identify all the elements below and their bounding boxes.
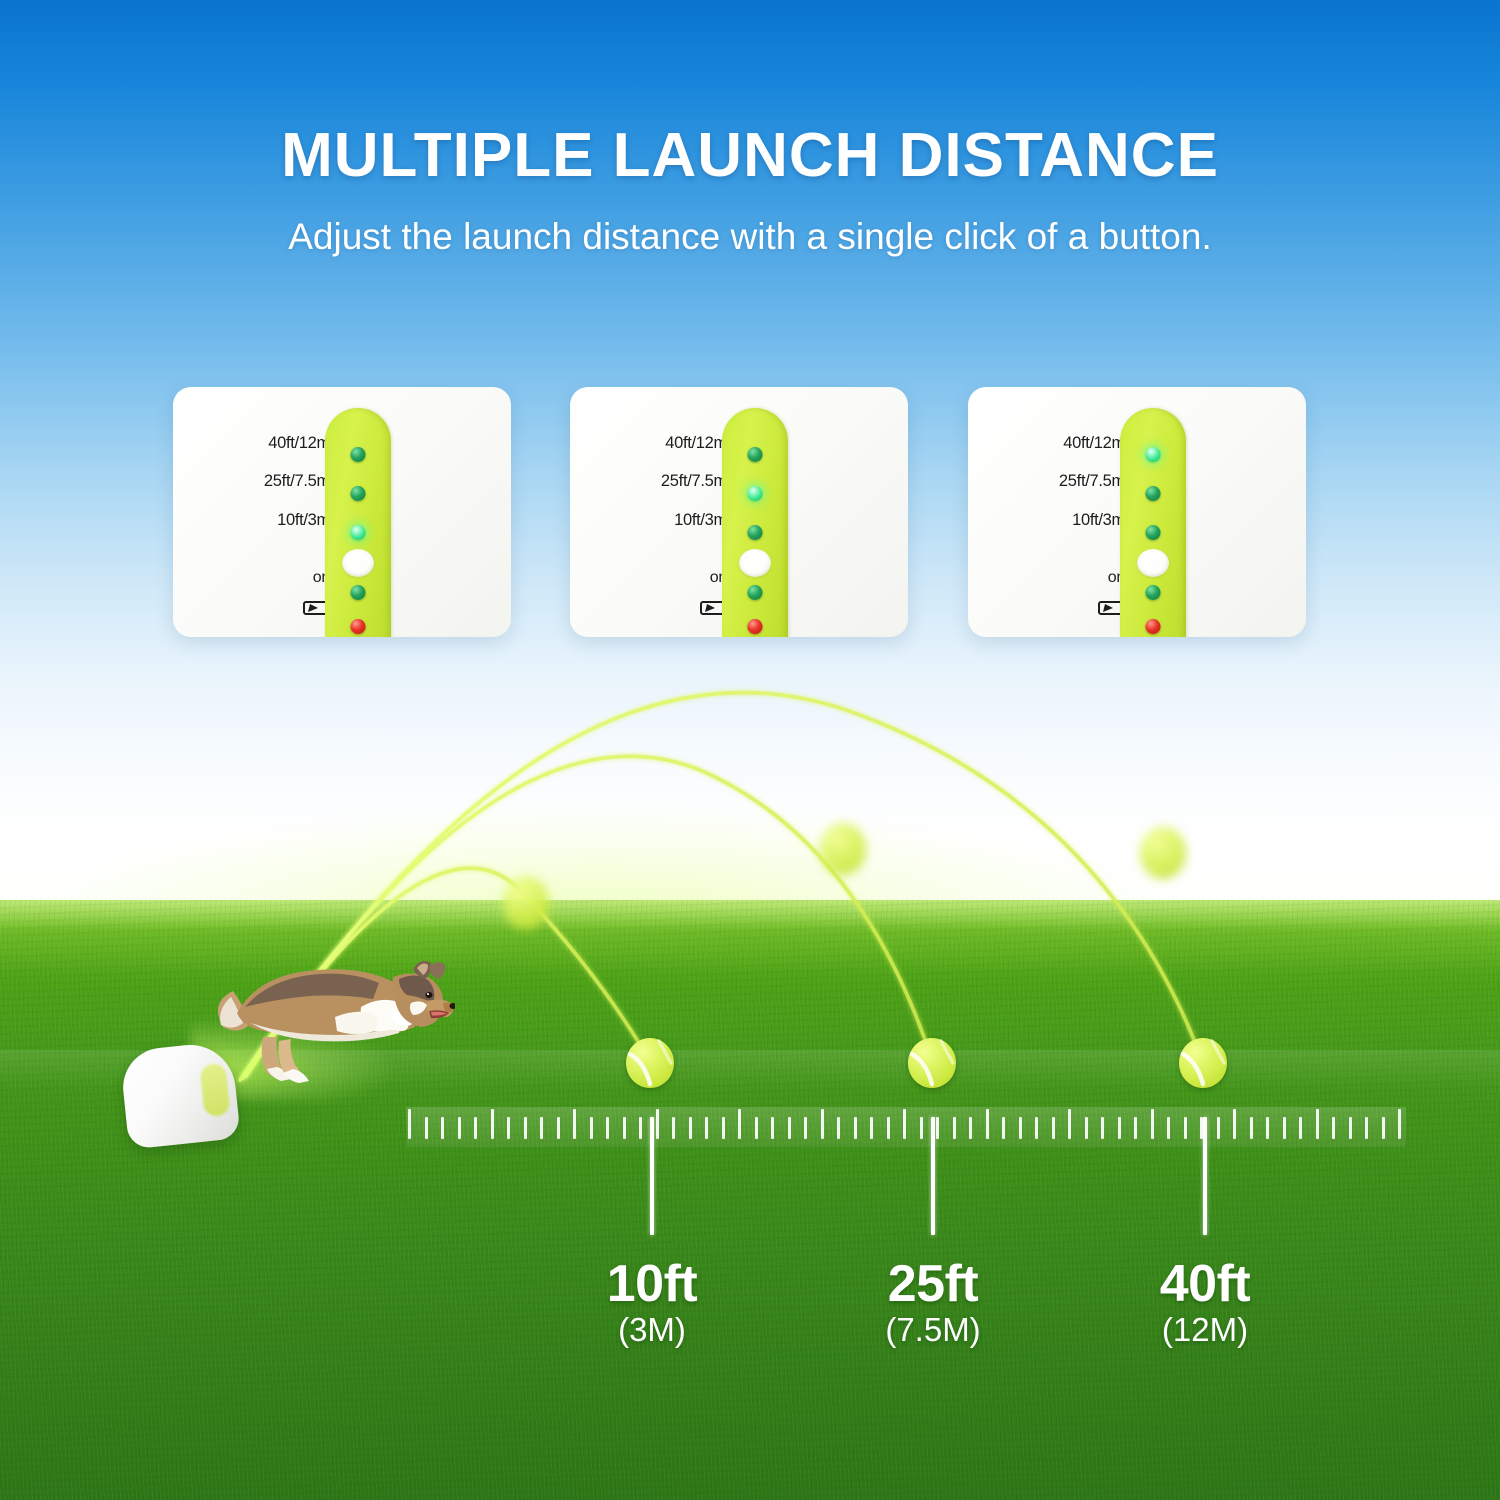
led-indicator-10ft3m	[748, 525, 763, 540]
distance-option-label: 40ft/12m	[665, 434, 727, 453]
distance-option-label: 25ft/7.5m	[1059, 472, 1125, 491]
led-indicator-25ft75m	[351, 486, 366, 501]
led-indicator-25ft75m	[1146, 486, 1161, 501]
power-button[interactable]	[342, 549, 374, 577]
led-indicator-40ft12m	[1146, 447, 1161, 462]
led-indicator-40ft12m	[351, 447, 366, 462]
led-indicator-battery	[351, 619, 366, 634]
led-indicator-battery	[748, 619, 763, 634]
led-indicator-battery	[1146, 619, 1161, 634]
panel-led-strip	[325, 408, 391, 637]
panel-label-column: 40ft/12m25ft/7.5m10ft/3mon	[173, 387, 348, 637]
panel-led-strip	[1120, 408, 1186, 637]
panel-10ft[interactable]: 40ft/12m25ft/7.5m10ft/3mon	[173, 387, 511, 637]
distance-option-label: 10ft/3m	[674, 511, 727, 530]
infographic-stage: MULTIPLE LAUNCH DISTANCE Adjust the laun…	[0, 0, 1500, 1500]
panel-40ft[interactable]: 40ft/12m25ft/7.5m10ft/3mon	[968, 387, 1306, 637]
panel-led-strip	[722, 408, 788, 637]
led-indicator-40ft12m	[748, 447, 763, 462]
distance-option-label: 40ft/12m	[1063, 434, 1125, 453]
led-indicator-25ft75m	[748, 486, 763, 501]
led-indicator-10ft3m	[1146, 525, 1161, 540]
distance-option-label: 10ft/3m	[277, 511, 330, 530]
control-panel-cards: 40ft/12m25ft/7.5m10ft/3mon40ft/12m25ft/7…	[0, 0, 1500, 1500]
led-indicator-power-on	[351, 585, 366, 600]
panel-25ft[interactable]: 40ft/12m25ft/7.5m10ft/3mon	[570, 387, 908, 637]
led-indicator-power-on	[748, 585, 763, 600]
led-indicator-power-on	[1146, 585, 1161, 600]
power-button[interactable]	[739, 549, 771, 577]
distance-option-label: 40ft/12m	[268, 434, 330, 453]
distance-option-label: 25ft/7.5m	[661, 472, 727, 491]
panel-label-column: 40ft/12m25ft/7.5m10ft/3mon	[968, 387, 1143, 637]
led-indicator-10ft3m	[351, 525, 366, 540]
power-button[interactable]	[1137, 549, 1169, 577]
panel-label-column: 40ft/12m25ft/7.5m10ft/3mon	[570, 387, 745, 637]
distance-option-label: 10ft/3m	[1072, 511, 1125, 530]
distance-option-label: 25ft/7.5m	[264, 472, 330, 491]
